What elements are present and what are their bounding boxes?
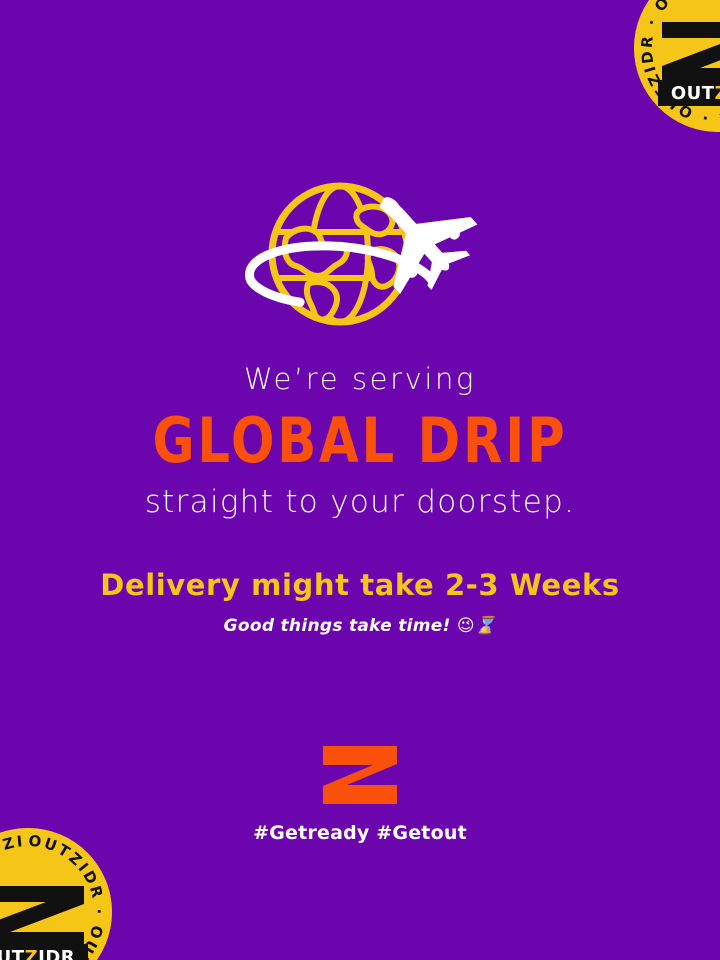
poster-copy-block: We’re serving GLOBAL DRIP straight to yo… <box>0 360 720 638</box>
svg-text:OUTZIDR: OUTZIDR <box>671 83 720 104</box>
globe-with-airplane-icon <box>234 176 486 340</box>
subhead-line: straight to your doorstep. <box>0 482 720 522</box>
outzidr-seal-bottom-left: OUTZIDR · OUTZIDR · OUTZIDR · OUTZIDR · … <box>0 828 112 960</box>
outzidr-z-logo <box>321 744 399 806</box>
hashtags: #Getready #Getout <box>0 820 720 846</box>
eyebrow-line: We’re serving <box>0 360 720 398</box>
footer-block: #Getready #Getout <box>0 744 720 846</box>
outzidr-seal-top-right: OUTZIDR · OUTZIDR · OUTZIDR · OUTZIDR · … <box>634 0 720 132</box>
svg-text:OUTZIDR: OUTZIDR <box>0 947 75 960</box>
reassurance-note: Good things take time! 😉⌛ <box>0 614 720 638</box>
delivery-note: Delivery might take 2-3 Weeks <box>0 566 720 604</box>
promotional-poster: We’re serving GLOBAL DRIP straight to yo… <box>0 0 720 960</box>
page-title: GLOBAL DRIP <box>29 406 691 476</box>
